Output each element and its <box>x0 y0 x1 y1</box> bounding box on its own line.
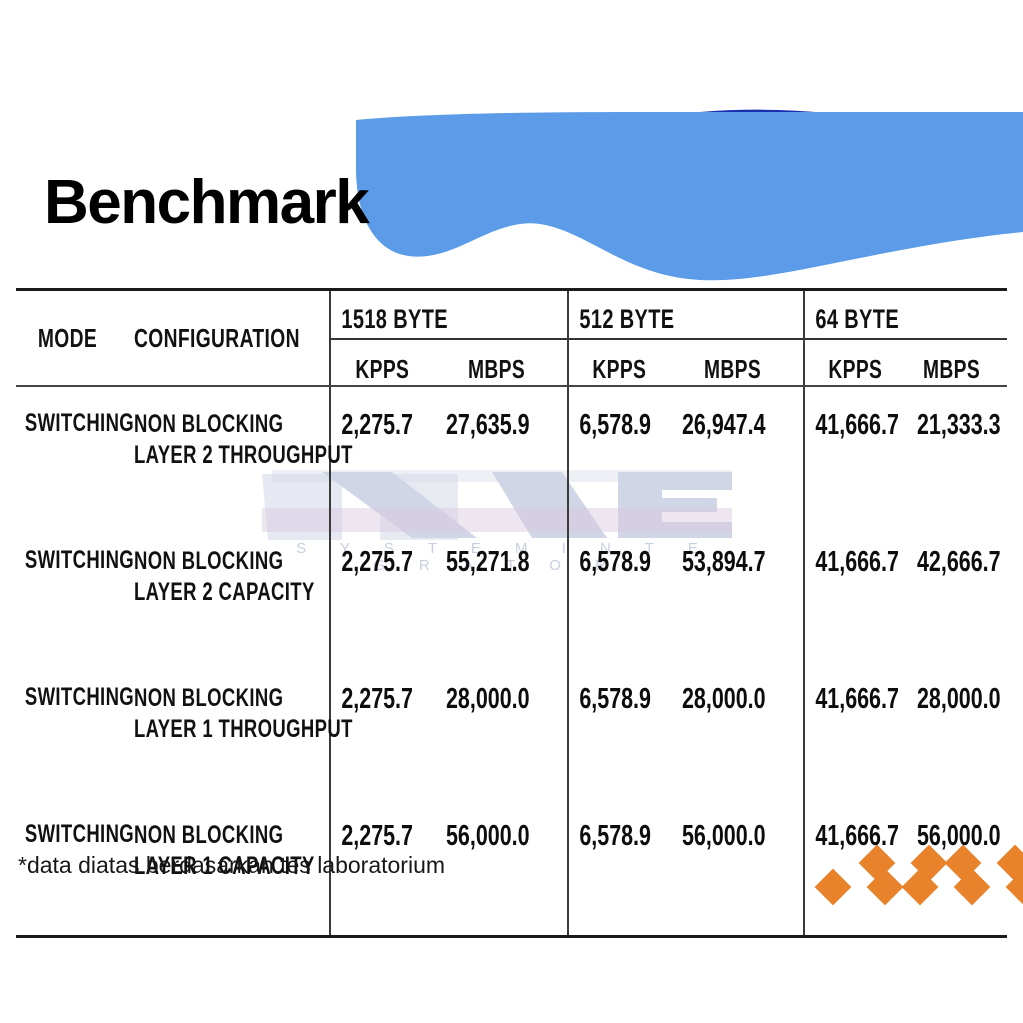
row-1518-mbps: 27,635.9 <box>446 387 568 524</box>
row-64-kpps: 41,666.7 <box>804 524 917 661</box>
row-mode: SWITCHING <box>16 661 134 798</box>
row-1518-mbps: 55,271.8 <box>446 524 568 661</box>
header-group-1518: 1518 BYTE <box>330 291 568 339</box>
benchmark-table: MODE CONFIGURATION 1518 BYTE <box>16 288 1007 938</box>
row-512-mbps: 53,894.7 <box>682 524 804 661</box>
header-512-mbps: MBPS <box>682 339 804 385</box>
header-mode-label: MODE <box>29 323 97 354</box>
row-512-kpps: 6,578.9 <box>568 524 682 661</box>
row-512-kpps: 6,578.9 <box>568 661 682 798</box>
row-1518-mbps: 28,000.0 <box>446 661 568 798</box>
footnote: *data diatas berdasarkan tes laboratoriu… <box>18 852 445 879</box>
row-1518-mbps: 56,000.0 <box>446 798 568 935</box>
header-configuration-label: CONFIGURATION <box>134 323 300 354</box>
row-512-mbps: 56,000.0 <box>682 798 804 935</box>
header-1518-mbps: MBPS <box>446 339 568 385</box>
page-title: Benchmark <box>44 172 368 234</box>
row-configuration: NON BLOCKING LAYER 2 CAPACITY <box>134 524 330 661</box>
row-512-kpps: 6,578.9 <box>568 387 682 524</box>
row-64-mbps: 28,000.0 <box>917 661 1007 798</box>
row-1518-kpps: 2,275.7 <box>330 524 446 661</box>
row-64-kpps: 41,666.7 <box>804 798 917 935</box>
row-configuration: NON BLOCKING LAYER 2 THROUGHPUT <box>134 387 330 524</box>
row-512-kpps: 6,578.9 <box>568 798 682 935</box>
row-512-mbps: 26,947.4 <box>682 387 804 524</box>
header-group-64-rule <box>805 338 1007 340</box>
row-64-mbps: 56,000.0 <box>917 798 1007 935</box>
row-512-mbps: 28,000.0 <box>682 661 804 798</box>
row-64-mbps: 42,666.7 <box>917 524 1007 661</box>
row-mode: SWITCHING <box>16 524 134 661</box>
header-group-512-rule <box>569 338 803 340</box>
row-64-mbps: 21,333.3 <box>917 387 1007 524</box>
header-group-1518-label: 1518 BYTE <box>331 304 448 335</box>
diamond-shape-icon <box>1006 869 1023 906</box>
header-512-kpps: KPPS <box>568 339 682 385</box>
header-64-mbps: MBPS <box>917 339 1007 385</box>
header-group-512-label: 512 BYTE <box>569 304 674 335</box>
header-1518-kpps: KPPS <box>330 339 446 385</box>
row-64-kpps: 41,666.7 <box>804 661 917 798</box>
table-row: SWITCHING NON BLOCKING LAYER 2 CAPACITY … <box>16 524 1007 661</box>
row-configuration: NON BLOCKING LAYER 1 THROUGHPUT <box>134 661 330 798</box>
header-group-512: 512 BYTE <box>568 291 804 339</box>
benchmark-slide: Benchmark S Y S T E M I N T E G R A T O … <box>0 0 1023 1023</box>
row-mode: SWITCHING <box>16 387 134 524</box>
table-bottom-rule <box>16 935 1007 938</box>
table-header-groups: MODE CONFIGURATION 1518 BYTE <box>16 291 1007 339</box>
header-64-kpps: KPPS <box>804 339 917 385</box>
header-group-1518-rule <box>331 338 567 340</box>
table-row: SWITCHING NON BLOCKING LAYER 2 THROUGHPU… <box>16 387 1007 524</box>
table-row: SWITCHING NON BLOCKING LAYER 1 THROUGHPU… <box>16 661 1007 798</box>
header-mode: MODE <box>16 291 134 385</box>
wave-decoration-icon <box>0 0 1023 300</box>
row-64-kpps: 41,666.7 <box>804 387 917 524</box>
header-configuration: CONFIGURATION <box>134 291 330 385</box>
header-group-64: 64 BYTE <box>804 291 1007 339</box>
header-group-64-label: 64 BYTE <box>805 304 899 335</box>
